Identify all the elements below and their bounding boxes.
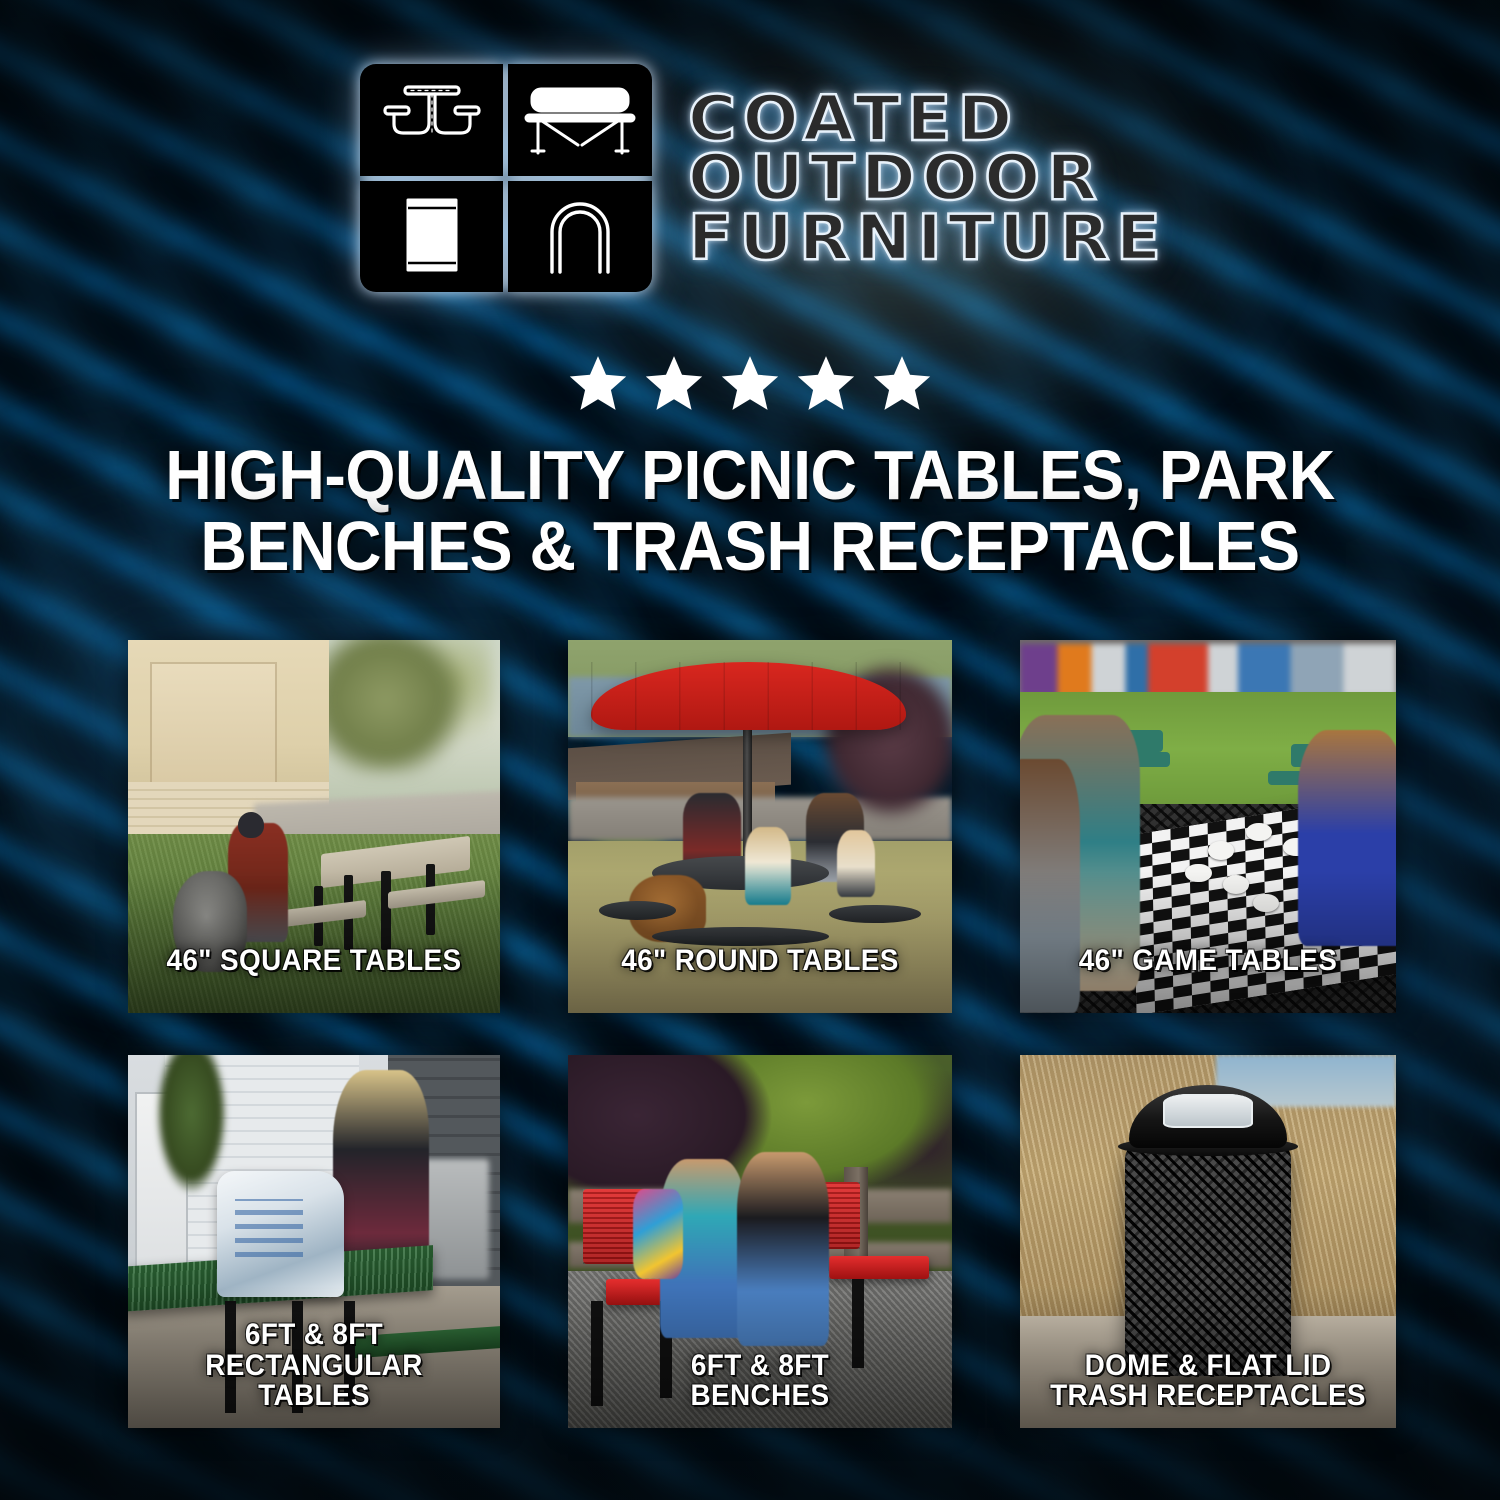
brand-name-line-2: OUTDOOR [688, 149, 1167, 206]
product-caption: 6FT & 8FT RECTANGULAR TABLES [147, 1320, 482, 1412]
star-icon [719, 352, 781, 414]
product-caption-line-2: RECTANGULAR TABLES [147, 1351, 482, 1412]
brand-name-line-1: COATED [688, 90, 1167, 147]
brand-logo: COATED OUTDOOR FURNITURE [0, 64, 1500, 292]
product-card-game-tables[interactable]: 46" GAME TABLES [1020, 640, 1396, 1013]
star-icon [871, 352, 933, 414]
star-rating [0, 352, 1500, 414]
headline-line-2: BENCHES & TRASH RECEPTACLES [115, 511, 1385, 582]
headline-line-1: HIGH-QUALITY PICNIC TABLES, PARK [115, 440, 1385, 511]
product-caption: 46" GAME TABLES [1039, 946, 1378, 977]
bike-rack-icon [508, 181, 652, 293]
poster-content: COATED OUTDOOR FURNITURE HIGH-QUALITY PI… [0, 0, 1500, 1500]
brand-name-line-3: FURNITURE [688, 209, 1167, 266]
brand-wordmark: COATED OUTDOOR FURNITURE [688, 90, 1140, 265]
headline: HIGH-QUALITY PICNIC TABLES, PARK BENCHES… [115, 440, 1385, 583]
trash-receptacle-icon [360, 181, 504, 293]
promotional-poster: COATED OUTDOOR FURNITURE HIGH-QUALITY PI… [0, 0, 1500, 1500]
picnic-table-icon [360, 64, 504, 176]
product-caption: DOME & FLAT LID TRASH RECEPTACLES [1039, 1351, 1378, 1412]
star-icon [643, 352, 705, 414]
product-caption-line-2: TRASH RECEPTACLES [1039, 1381, 1378, 1412]
product-caption-line-1: 6FT & 8FT [587, 1351, 933, 1382]
product-card-rectangular-tables[interactable]: 6FT & 8FT RECTANGULAR TABLES [128, 1055, 500, 1428]
product-card-round-tables[interactable]: 46" ROUND TABLES [568, 640, 952, 1013]
product-caption-line-2: BENCHES [587, 1381, 933, 1412]
product-caption: 46" SQUARE TABLES [147, 946, 482, 977]
product-card-benches[interactable]: 6FT & 8FT BENCHES [568, 1055, 952, 1428]
bench-icon [508, 64, 652, 176]
product-card-trash-receptacles[interactable]: DOME & FLAT LID TRASH RECEPTACLES [1020, 1055, 1396, 1428]
product-card-square-tables[interactable]: 46" SQUARE TABLES [128, 640, 500, 1013]
product-caption: 6FT & 8FT BENCHES [587, 1351, 933, 1412]
logo-icon-grid [360, 64, 652, 292]
star-icon [795, 352, 857, 414]
product-caption-line-1: DOME & FLAT LID [1039, 1351, 1378, 1382]
product-caption: 46" ROUND TABLES [587, 946, 933, 977]
product-caption-line-1: 6FT & 8FT [147, 1320, 482, 1351]
product-grid: 46" SQUARE TABLES [128, 640, 1380, 1428]
star-icon [567, 352, 629, 414]
